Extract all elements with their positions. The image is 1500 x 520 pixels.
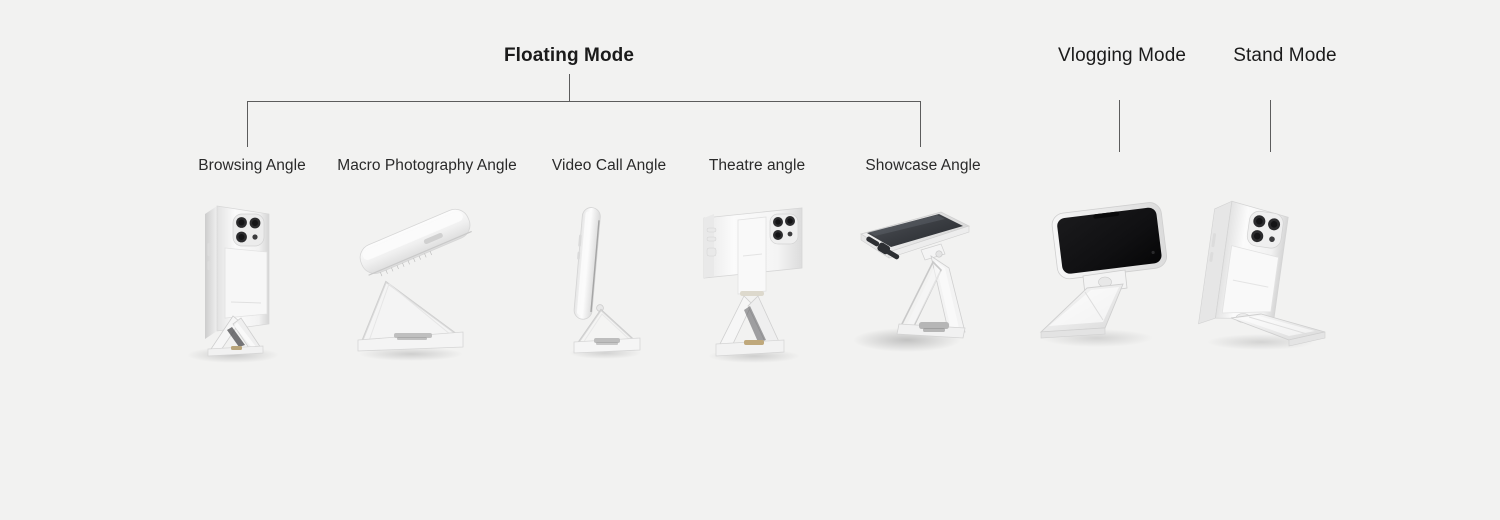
product-image-video-call-angle xyxy=(550,196,660,366)
group-title-stand-mode: Stand Mode xyxy=(1233,45,1336,67)
item-label-macro-photography-angle: Macro Photography Angle xyxy=(337,157,517,175)
item-label-video-call-angle: Video Call Angle xyxy=(552,157,666,175)
product-image-stand-mode xyxy=(1185,196,1345,356)
connector-leg-left-floating-mode xyxy=(247,101,248,147)
connector-vlogging-mode xyxy=(1119,100,1120,152)
connector-stand-mode xyxy=(1270,100,1271,152)
product-image-macro-photography-angle xyxy=(339,196,489,366)
group-title-vlogging-mode: Vlogging Mode xyxy=(1058,45,1186,67)
item-label-browsing-angle: Browsing Angle xyxy=(198,157,306,175)
connector-stem-floating-mode xyxy=(569,74,570,102)
product-modes-diagram: Floating Mode Vlogging Mode Stand Mode B… xyxy=(0,0,1500,520)
product-image-vlogging-mode xyxy=(1025,196,1195,356)
connector-bracket-floating-mode xyxy=(247,101,921,102)
item-label-theatre-angle: Theatre angle xyxy=(709,157,805,175)
product-image-browsing-angle xyxy=(175,196,305,366)
item-label-showcase-angle: Showcase Angle xyxy=(865,157,980,175)
product-image-theatre-angle xyxy=(692,196,822,366)
group-title-floating-mode: Floating Mode xyxy=(504,45,634,67)
product-image-showcase-angle xyxy=(845,196,995,366)
connector-leg-right-floating-mode xyxy=(920,101,921,147)
